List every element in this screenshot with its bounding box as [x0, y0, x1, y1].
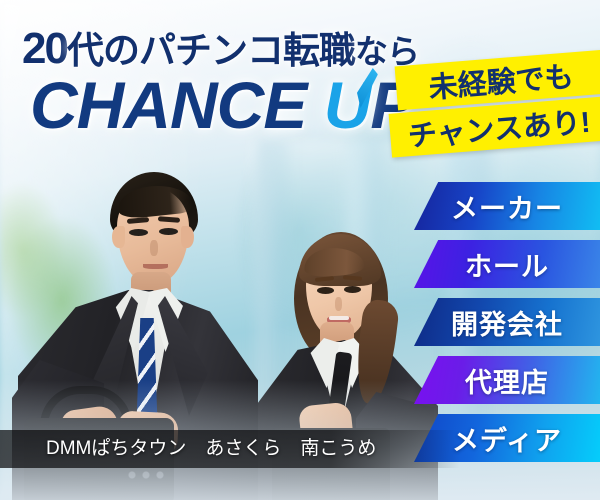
category-bar-developer-label: 開発会社: [451, 303, 563, 342]
category-bar-list: メーカー ホール 開発会社 代理店 メディア: [0, 0, 600, 500]
category-bar-maker[interactable]: メーカー: [414, 182, 600, 230]
category-bar-developer[interactable]: 開発会社: [414, 298, 600, 346]
category-bar-maker-label: メーカー: [451, 187, 563, 226]
category-bar-media-label: メディア: [452, 419, 562, 458]
category-bar-agency[interactable]: 代理店: [414, 356, 600, 404]
category-bar-hall-label: ホール: [465, 245, 549, 284]
ad-banner[interactable]: 20代のパチンコ転職なら CHANCE UP 未経験でも チャンスあり! メーカ…: [0, 0, 600, 500]
category-bar-agency-label: 代理店: [465, 361, 549, 400]
category-bar-hall[interactable]: ホール: [414, 240, 600, 288]
credit-text: DMMぱちタウン あさくら 南こうめ: [46, 433, 376, 460]
